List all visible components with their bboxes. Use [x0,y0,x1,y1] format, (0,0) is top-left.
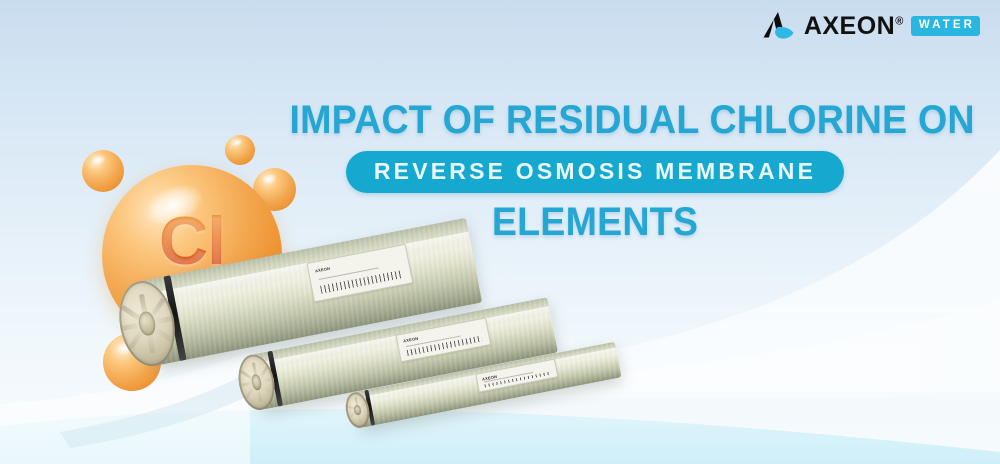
headline-pill: REVERSE OSMOSIS MEMBRANE [346,151,844,193]
mini-bubble-upper-left [82,150,124,192]
banner: AXEON® WATER IMPACT OF RESIDUAL CHLORINE… [0,0,1000,464]
axeon-a-droplet-icon [763,10,797,42]
registered-trademark-icon: ® [895,15,904,27]
axeon-logo[interactable]: AXEON® WATER [763,10,980,42]
membrane-label-brand: AXEON [403,336,419,344]
axeon-wordmark-text: AXEON [804,12,895,40]
mini-bubble-top [225,135,255,165]
membrane-label-brand: AXEON [315,265,331,273]
headline-pill-label: REVERSE OSMOSIS MEMBRANE [374,160,816,183]
axeon-wordmark: AXEON® [804,14,904,39]
water-badge: WATER [911,16,980,36]
headline-line-1: IMPACT OF RESIDUAL CHLORINE ON [290,100,901,141]
headline-block: IMPACT OF RESIDUAL CHLORINE ON REVERSE O… [270,100,920,243]
membrane-elements-group: AXEON [120,250,680,464]
